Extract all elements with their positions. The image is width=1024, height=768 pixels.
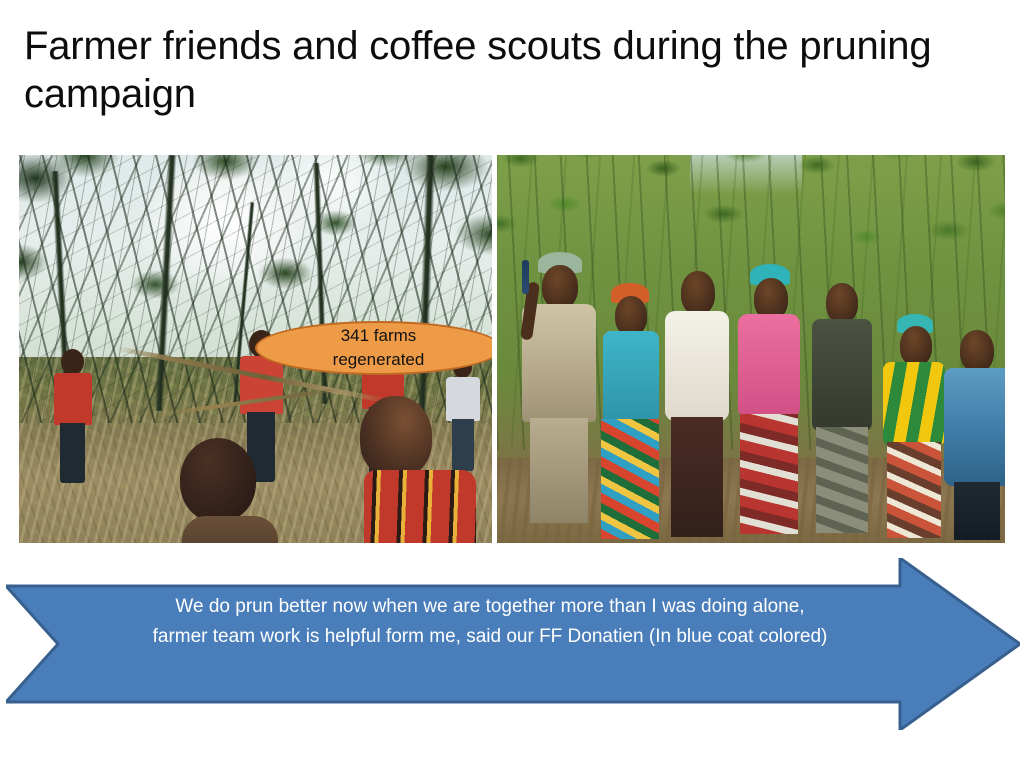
blue-coat [944,368,1005,486]
farmer-lower [601,419,659,539]
callout-farms-regenerated: 341 farms regenerated [255,321,492,375]
photo-right: 519 farms pruned [497,155,1005,543]
child-body [364,470,476,543]
farmer-figure [736,264,802,536]
farmer-figure [665,271,729,539]
farmer-body [883,362,945,446]
farmer-figure-with-shears [522,252,596,527]
farmer-body [665,311,729,421]
child-head [360,396,432,478]
farmer-body [812,319,872,431]
farmer-head [960,330,994,372]
farmer-head [681,271,715,315]
worker-torso [240,356,283,414]
farmer-figure [812,283,872,535]
farmer-head [615,296,647,336]
child-figure [360,396,480,543]
farmer-figure-blue-coat [944,330,1005,542]
worker-figure [52,349,94,499]
photo-left: 341 farms regenerated [19,155,492,543]
worker-legs [60,423,85,483]
banner-quote-text: We do prun better now when we are togeth… [80,592,900,652]
farmer-head [900,326,932,366]
worker-head [61,349,84,375]
farmer-head [542,265,578,309]
slide-canvas: Farmer friends and coffee scouts during … [0,0,1024,768]
child-body [182,516,278,543]
child-figure [180,438,280,543]
farmer-lower [954,482,1000,540]
child-head [180,438,256,522]
farmer-figure [599,283,661,541]
worker-torso [54,373,92,425]
farmer-lower [816,427,868,533]
farmer-lower [530,418,588,523]
farmer-body [738,314,800,418]
farmer-figure [883,314,945,540]
pruning-shears-icon [522,260,529,294]
farmer-lower [887,442,941,538]
page-title: Farmer friends and coffee scouts during … [24,22,999,118]
farmer-lower [740,414,798,534]
farmer-body [603,331,659,423]
farmer-lower [671,417,723,537]
farmer-head [826,283,858,323]
